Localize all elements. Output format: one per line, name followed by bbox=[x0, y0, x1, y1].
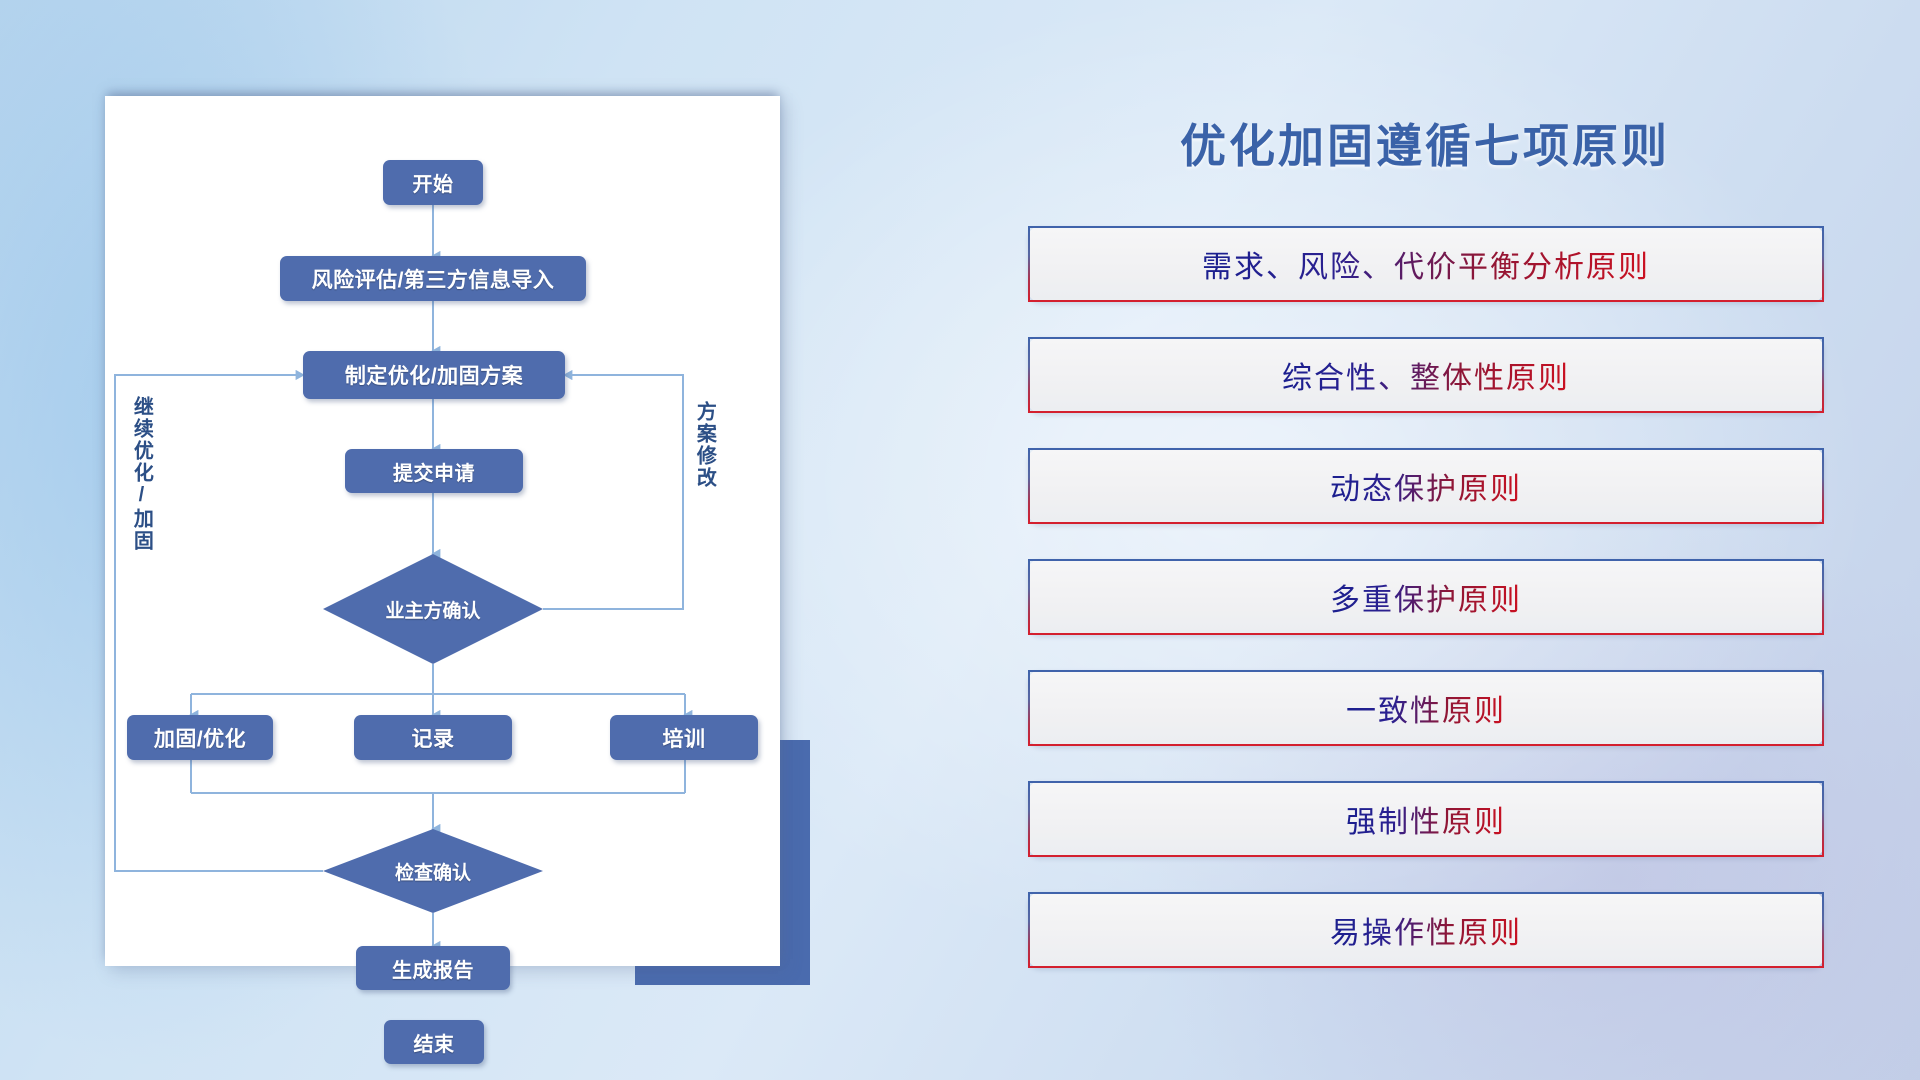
node-start[interactable]: 开始 bbox=[383, 160, 483, 205]
principle-label: 强制性原则 bbox=[1346, 797, 1506, 841]
principle-label: 易操作性原则 bbox=[1330, 908, 1522, 952]
node-reinforce-optimize-label: 加固/优化 bbox=[154, 723, 246, 753]
principles-list: 需求、风险、代价平衡分析原则 综合性、整体性原则 动态保护原则 多重保护原则 一… bbox=[1028, 226, 1824, 1003]
node-risk-assessment[interactable]: 风险评估/第三方信息导入 bbox=[280, 256, 586, 301]
node-end-label: 结束 bbox=[414, 1028, 455, 1057]
node-submit-application-label: 提交申请 bbox=[393, 457, 475, 486]
node-check-confirm-label: 检查确认 bbox=[353, 856, 513, 886]
slide-canvas: 开始 风险评估/第三方信息导入 制定优化/加固方案 提交申请 业主方确认 加固/… bbox=[0, 0, 1920, 1080]
node-training-label: 培训 bbox=[663, 723, 706, 753]
node-reinforce-optimize[interactable]: 加固/优化 bbox=[127, 715, 273, 760]
node-make-plan-label: 制定优化/加固方案 bbox=[345, 360, 523, 390]
principle-card[interactable]: 需求、风险、代价平衡分析原则 bbox=[1028, 226, 1824, 302]
principles-panel: 优化加固遵循七项原则 需求、风险、代价平衡分析原则 综合性、整体性原则 动态保护… bbox=[1020, 96, 1830, 996]
node-generate-report[interactable]: 生成报告 bbox=[356, 946, 510, 990]
edge-label-revise-loop: 方案修改 bbox=[694, 401, 714, 489]
node-make-plan[interactable]: 制定优化/加固方案 bbox=[303, 351, 565, 399]
principle-card[interactable]: 综合性、整体性原则 bbox=[1028, 337, 1824, 413]
principle-card[interactable]: 易操作性原则 bbox=[1028, 892, 1824, 968]
principle-card[interactable]: 多重保护原则 bbox=[1028, 559, 1824, 635]
principle-label: 综合性、整体性原则 bbox=[1282, 353, 1570, 397]
node-owner-confirm-label: 业主方确认 bbox=[353, 594, 513, 624]
node-end[interactable]: 结束 bbox=[384, 1020, 484, 1064]
principle-card[interactable]: 动态保护原则 bbox=[1028, 448, 1824, 524]
principle-label: 多重保护原则 bbox=[1330, 575, 1522, 619]
principle-label: 动态保护原则 bbox=[1330, 464, 1522, 508]
principle-card[interactable]: 一致性原则 bbox=[1028, 670, 1824, 746]
principle-label: 需求、风险、代价平衡分析原则 bbox=[1202, 242, 1650, 286]
node-submit-application[interactable]: 提交申请 bbox=[345, 449, 523, 493]
node-record-label: 记录 bbox=[412, 723, 455, 753]
node-record[interactable]: 记录 bbox=[354, 715, 512, 760]
edge-label-continue-loop: 继续优化/加固 bbox=[131, 396, 151, 552]
flowchart-card: 开始 风险评估/第三方信息导入 制定优化/加固方案 提交申请 业主方确认 加固/… bbox=[105, 96, 780, 966]
node-generate-report-label: 生成报告 bbox=[392, 954, 474, 983]
principle-card[interactable]: 强制性原则 bbox=[1028, 781, 1824, 857]
flowchart-connectors bbox=[105, 96, 780, 966]
principle-label: 一致性原则 bbox=[1346, 686, 1506, 730]
page-title: 优化加固遵循七项原则 bbox=[1020, 110, 1830, 176]
node-start-label: 开始 bbox=[413, 168, 454, 197]
node-risk-assessment-label: 风险评估/第三方信息导入 bbox=[312, 264, 555, 294]
node-training[interactable]: 培训 bbox=[610, 715, 758, 760]
